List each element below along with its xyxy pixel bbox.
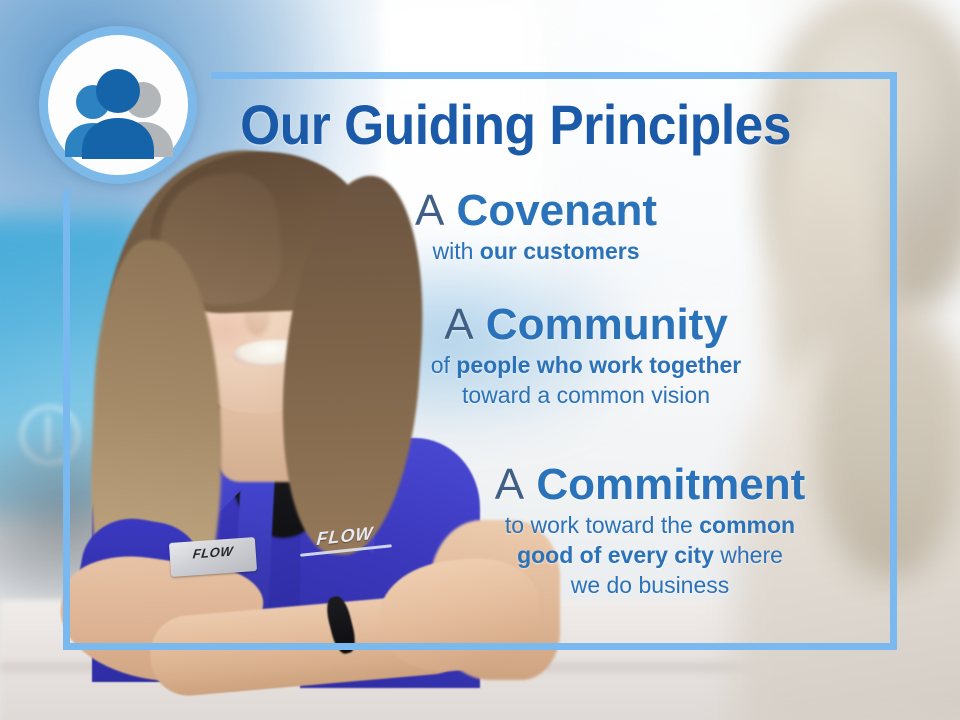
- principle-community-article: A: [444, 300, 473, 349]
- page-title: Our Guiding Principles: [212, 96, 819, 154]
- text-segment: with: [432, 238, 479, 264]
- principle-community-keyword: Community: [486, 300, 728, 349]
- principle-commitment-line-3: we do business: [340, 570, 960, 600]
- principle-covenant-keyword: Covenant: [457, 186, 657, 235]
- principle-commitment-title: A Commitment: [340, 460, 960, 510]
- principle-covenant-title: A Covenant: [236, 186, 836, 236]
- text-segment-bold: our customers: [480, 238, 640, 264]
- principle-commitment-article: A: [495, 460, 524, 509]
- text-segment: of: [431, 352, 457, 378]
- text-segment-bold: people who work together: [456, 352, 741, 378]
- poster-canvas: FLOW FLOW Our Guiding Principles A Coven…: [0, 0, 960, 720]
- principle-community-title: A Community: [286, 300, 886, 350]
- principle-community: A Community of people who work together …: [286, 300, 886, 410]
- principle-covenant: A Covenant with our customers: [236, 186, 836, 266]
- principle-commitment-line-2: good of every city where: [340, 540, 960, 570]
- text-segment: toward a common vision: [462, 382, 710, 408]
- principle-commitment-keyword: Commitment: [536, 460, 805, 509]
- principle-community-line-1: of people who work together: [286, 350, 886, 380]
- principle-community-line-2: toward a common vision: [286, 380, 886, 410]
- group-of-people-icon: [39, 26, 197, 184]
- text-segment: we do business: [571, 572, 730, 598]
- text-segment-bold: good of every city: [517, 542, 714, 568]
- principle-covenant-line-1: with our customers: [236, 236, 836, 266]
- principle-commitment: A Commitment to work toward the common g…: [340, 460, 960, 600]
- text-segment: where: [714, 542, 783, 568]
- principle-covenant-article: A: [415, 186, 444, 235]
- principle-commitment-line-1: to work toward the common: [340, 510, 960, 540]
- text-segment: to work toward the: [505, 512, 699, 538]
- text-segment-bold: common: [699, 512, 795, 538]
